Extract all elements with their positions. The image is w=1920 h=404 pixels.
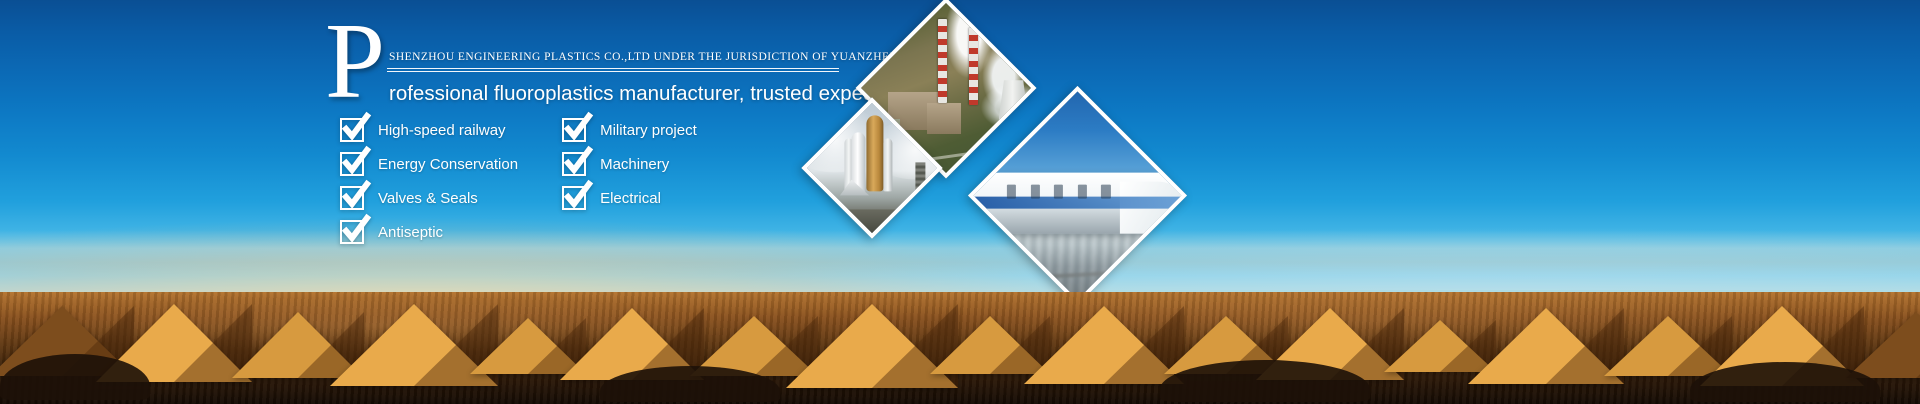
list-item-label: Valves & Seals [378,190,478,207]
desert-pyramids-scene [0,214,1920,404]
train-window [1101,184,1110,198]
train-window [1078,184,1087,198]
check-icon [340,186,364,210]
headline-wrap: SHENZHOU ENGINEERING PLASTICS CO.,LTD UN… [387,50,865,107]
smoke-stack [969,28,978,105]
solid-rocket-booster [884,139,893,192]
page-title: rofessional fluoroplastics manufacturer,… [387,81,865,107]
external-fuel-tank [866,115,883,192]
check-icon [340,152,364,176]
check-icon [340,118,364,142]
check-icon [562,186,586,210]
smoke-stack [938,19,947,103]
list-item[interactable]: High-speed railway [340,118,518,142]
list-item[interactable]: Machinery [562,152,697,176]
cooling-tower [999,80,1029,120]
list-item-label: Military project [600,122,697,139]
train-window [1030,184,1039,198]
pyramid [1846,312,1920,378]
list-item-label: Electrical [600,190,661,207]
check-icon [562,152,586,176]
launch-gantry [915,162,925,221]
train-window [1007,184,1016,198]
double-rule-divider [387,68,839,72]
logo-letter-p: P [325,14,383,110]
list-item-label: Energy Conservation [378,156,518,173]
check-icon [562,118,586,142]
pyramid [1468,308,1624,384]
company-hero-banner: P SHENZHOU ENGINEERING PLASTICS CO.,LTD … [0,0,1920,404]
list-item[interactable]: Valves & Seals [340,186,518,210]
list-item[interactable]: Energy Conservation [340,152,518,176]
list-item[interactable]: Electrical [562,186,697,210]
company-tagline: SHENZHOU ENGINEERING PLASTICS CO.,LTD UN… [387,50,865,65]
train-window [1054,184,1063,198]
list-item-label: Machinery [600,156,669,173]
plant-building [927,103,962,134]
pyramid [1024,306,1184,384]
list-item-label: High-speed railway [378,122,506,139]
list-item[interactable]: Military project [562,118,697,142]
